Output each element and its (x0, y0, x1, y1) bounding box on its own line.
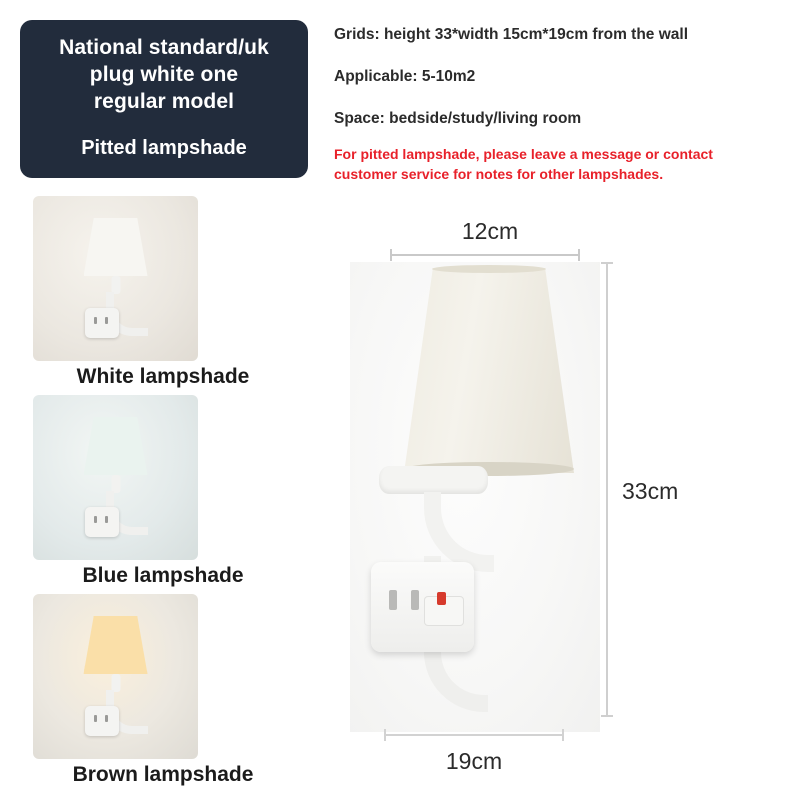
variant-photo-brown[interactable] (33, 594, 198, 759)
spec-note: For pitted lampshade, please leave a mes… (334, 144, 784, 184)
main-lampshade-top-rim (432, 265, 546, 273)
dimension-width-line (390, 254, 580, 256)
main-lamp-cap (379, 466, 488, 494)
spec-grids: Grids: height 33*width 15cm*19cm from th… (334, 26, 784, 44)
title-line-4: Pitted lampshade (81, 137, 247, 160)
variant-item-white[interactable]: White lampshade (20, 196, 320, 389)
dimension-depth-line (384, 734, 564, 736)
variant-item-blue[interactable]: Blue lampshade (20, 395, 320, 588)
main-lampshade (404, 268, 574, 473)
spec-note-line-1: For pitted lampshade, please leave a mes… (334, 144, 784, 164)
variant-item-brown[interactable]: Brown lampshade (20, 594, 320, 787)
main-plug-pin-left (389, 590, 397, 610)
thumb-lampshade (84, 616, 148, 674)
thumb-lampshade (84, 218, 148, 276)
variant-caption-brown: Brown lampshade (13, 763, 313, 787)
spec-applicable: Applicable: 5-10m2 (334, 68, 784, 86)
spec-space: Space: bedside/study/living room (334, 110, 784, 128)
dimension-width-label: 12cm (390, 218, 590, 245)
variant-photo-blue[interactable] (33, 395, 198, 560)
variant-caption-blue: Blue lampshade (13, 564, 313, 588)
thumb-plug-socket (85, 507, 119, 537)
title-line-2: plug white one (90, 61, 238, 88)
title-line-1: National standard/uk (59, 34, 269, 61)
specs-block: Grids: height 33*width 15cm*19cm from th… (334, 26, 784, 184)
thumb-plug-socket (85, 308, 119, 338)
variant-photo-white[interactable] (33, 196, 198, 361)
dimension-depth-label: 19cm (384, 748, 564, 775)
thumb-plug-socket (85, 706, 119, 736)
title-line-3: regular model (94, 88, 234, 115)
dimension-height-label: 33cm (622, 478, 678, 505)
spec-note-line-2: customer service for notes for other lam… (334, 164, 784, 184)
main-plug-switch-indicator (437, 592, 446, 605)
thumb-lampshade (84, 417, 148, 475)
dimension-height-line (606, 262, 608, 717)
variant-caption-white: White lampshade (13, 365, 313, 389)
main-plug-pin-right (411, 590, 419, 610)
variant-thumbnail-list: White lampshade Blue lampshade Brown lam… (20, 196, 320, 793)
product-title-card: National standard/uk plug white one regu… (20, 20, 308, 178)
